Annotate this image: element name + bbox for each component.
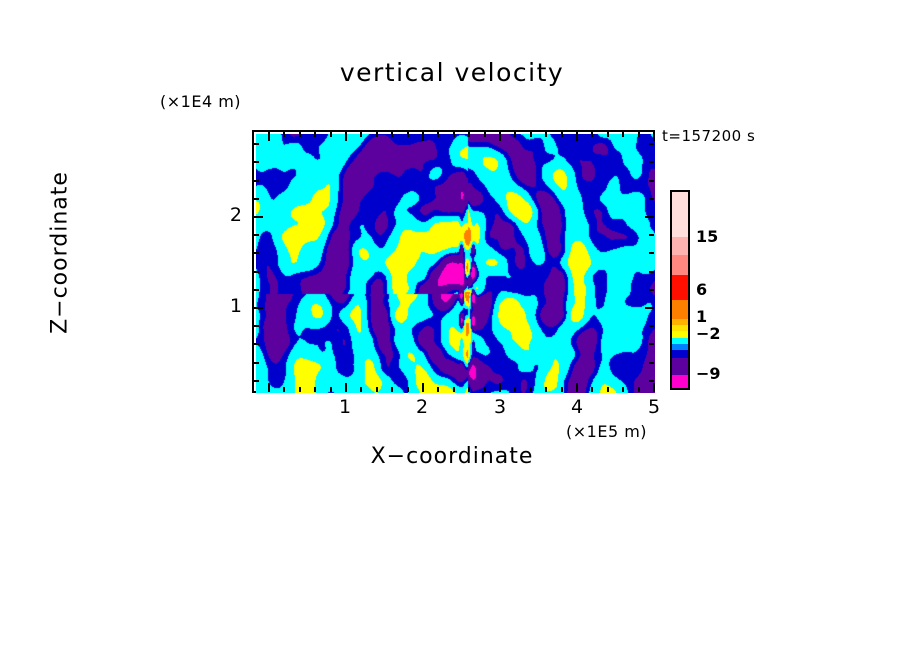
tick-mark	[283, 387, 285, 392]
tick-mark	[268, 132, 270, 141]
tick-mark	[545, 132, 547, 137]
tick-mark	[645, 216, 654, 218]
tick-mark	[607, 132, 609, 137]
colorbar-band	[672, 375, 688, 388]
tick-mark	[607, 387, 609, 392]
tick-mark	[649, 380, 654, 382]
tick-mark	[422, 383, 424, 392]
tick-mark	[268, 383, 270, 392]
tick-mark	[254, 343, 259, 345]
x-tick-label: 2	[407, 396, 437, 418]
tick-mark	[254, 252, 259, 254]
tick-mark	[330, 132, 332, 137]
tick-mark	[649, 343, 654, 345]
tick-mark	[314, 387, 316, 392]
tick-mark	[254, 234, 259, 236]
tick-mark	[407, 132, 409, 137]
tick-mark	[453, 132, 455, 137]
tick-mark	[254, 307, 263, 309]
tick-mark	[645, 307, 654, 309]
tick-mark	[360, 132, 362, 137]
tick-mark	[254, 289, 259, 291]
colorbar-band	[672, 275, 688, 300]
tick-mark	[254, 325, 259, 327]
tick-mark	[561, 132, 563, 137]
tick-mark	[638, 132, 640, 137]
tick-mark	[649, 325, 654, 327]
timestamp-annotation: t=157200 s	[662, 127, 755, 145]
tick-mark	[649, 180, 654, 182]
tick-mark	[254, 198, 259, 200]
y-axis-title: Z−coordinate	[48, 113, 73, 393]
y-tick-label: 1	[212, 295, 242, 317]
tick-mark	[453, 387, 455, 392]
tick-mark	[638, 387, 640, 392]
tick-mark	[376, 132, 378, 137]
tick-mark	[437, 387, 439, 392]
x-tick-label: 4	[562, 396, 592, 418]
tick-mark	[254, 362, 259, 364]
tick-mark	[254, 216, 263, 218]
y-axis-unit-label: (×1E4 m)	[160, 92, 241, 111]
tick-mark	[649, 271, 654, 273]
tick-mark	[484, 132, 486, 137]
tick-mark	[622, 387, 624, 392]
tick-mark	[345, 132, 347, 141]
tick-mark	[407, 387, 409, 392]
tick-mark	[299, 132, 301, 137]
tick-mark	[360, 387, 362, 392]
colorbar-band	[672, 358, 688, 375]
tick-mark	[499, 132, 501, 141]
tick-mark	[530, 132, 532, 137]
tick-mark	[653, 383, 655, 392]
tick-mark	[254, 271, 259, 273]
tick-mark	[530, 387, 532, 392]
y-tick-label: 2	[212, 204, 242, 226]
tick-mark	[376, 387, 378, 392]
tick-mark	[499, 383, 501, 392]
tick-mark	[254, 180, 259, 182]
tick-mark	[514, 132, 516, 137]
tick-mark	[468, 387, 470, 392]
colorbar-band	[672, 300, 688, 319]
tick-mark	[649, 143, 654, 145]
tick-mark	[591, 132, 593, 137]
x-tick-label: 3	[485, 396, 515, 418]
tick-mark	[649, 252, 654, 254]
colorbar-tick-label: −9	[696, 364, 721, 383]
tick-mark	[299, 387, 301, 392]
tick-mark	[254, 380, 259, 382]
tick-mark	[653, 132, 655, 141]
vertical-velocity-field	[256, 134, 655, 393]
tick-mark	[391, 387, 393, 392]
x-tick-label: 1	[330, 396, 360, 418]
tick-mark	[561, 387, 563, 392]
tick-mark	[330, 387, 332, 392]
tick-mark	[576, 383, 578, 392]
tick-mark	[649, 234, 654, 236]
tick-mark	[391, 132, 393, 137]
colorbar-band	[672, 350, 688, 358]
tick-mark	[622, 132, 624, 137]
tick-mark	[649, 362, 654, 364]
tick-mark	[254, 143, 259, 145]
tick-mark	[576, 132, 578, 141]
colorbar-band	[672, 237, 688, 255]
tick-mark	[468, 132, 470, 137]
tick-mark	[591, 387, 593, 392]
contour-plot-area	[252, 130, 655, 393]
colorbar	[670, 190, 690, 390]
tick-mark	[437, 132, 439, 137]
tick-mark	[649, 161, 654, 163]
tick-mark	[649, 289, 654, 291]
tick-mark	[484, 387, 486, 392]
tick-mark	[254, 161, 259, 163]
tick-mark	[545, 387, 547, 392]
tick-mark	[283, 132, 285, 137]
colorbar-tick-label: 6	[696, 280, 707, 299]
colorbar-band	[672, 255, 688, 275]
x-axis-title: X−coordinate	[0, 444, 904, 469]
tick-mark	[649, 198, 654, 200]
tick-mark	[422, 132, 424, 141]
x-axis-unit-label: (×1E5 m)	[566, 422, 647, 441]
x-tick-label: 5	[639, 396, 669, 418]
colorbar-band	[672, 331, 688, 338]
tick-mark	[514, 387, 516, 392]
colorbar-tick-label: 15	[696, 227, 718, 246]
colorbar-band	[672, 192, 688, 237]
tick-mark	[345, 383, 347, 392]
plot-title: vertical velocity	[0, 58, 904, 87]
colorbar-tick-label: −2	[696, 324, 721, 343]
tick-mark	[314, 132, 316, 137]
